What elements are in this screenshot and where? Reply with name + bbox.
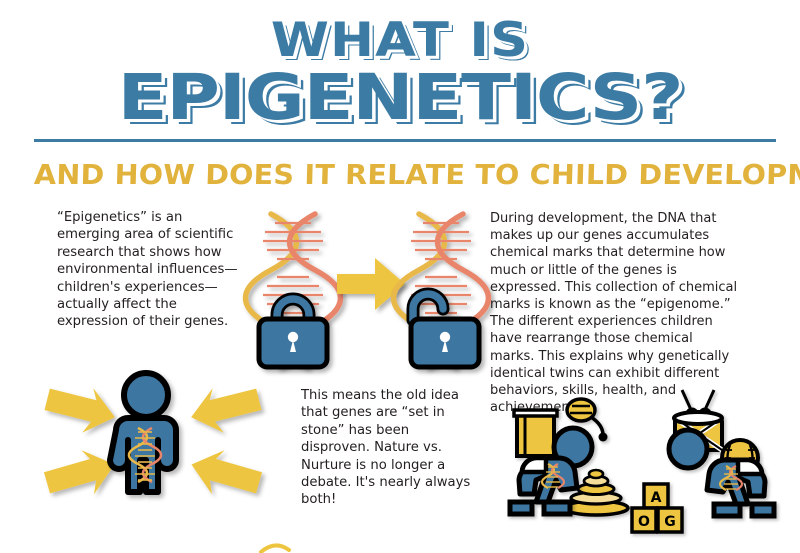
paragraph-development: During development, the DNA that makes u… xyxy=(490,210,740,416)
title-line-what-is: WHAT IS xyxy=(0,18,800,64)
page-title: WHAT IS EPIGENETICS? xyxy=(0,18,800,129)
dna-locks-illustration xyxy=(253,206,485,372)
title-line-epigenetics: EPIGENETICS? xyxy=(0,66,800,129)
bottom-decorative-mark xyxy=(255,538,315,553)
children-toys-illustration: A O G xyxy=(492,392,792,542)
person-arrows-illustration xyxy=(28,368,278,548)
child-figure xyxy=(110,373,176,492)
book-icon xyxy=(514,410,557,456)
arrow-bottom-right xyxy=(185,442,265,506)
subtitle: AND HOW DOES IT RELATE TO CHILD DEVELOPM… xyxy=(34,159,800,191)
arrow-top-right xyxy=(186,378,265,440)
arrow-top-left xyxy=(41,378,120,440)
infographic-page: WHAT IS EPIGENETICS? AND HOW DOES IT REL… xyxy=(0,0,800,553)
alphabet-blocks-icon: A O G xyxy=(632,484,682,532)
header-divider-rule xyxy=(34,139,776,142)
block-letter-a: A xyxy=(651,490,662,506)
block-letter-g: G xyxy=(664,514,676,530)
paragraph-set-in-stone: This means the old idea that genes are “… xyxy=(301,387,471,509)
paragraph-definition: “Epigenetics” is an emerging area of sci… xyxy=(57,209,242,331)
padlock-locked-icon xyxy=(259,299,327,367)
block-letter-o: O xyxy=(638,514,650,530)
